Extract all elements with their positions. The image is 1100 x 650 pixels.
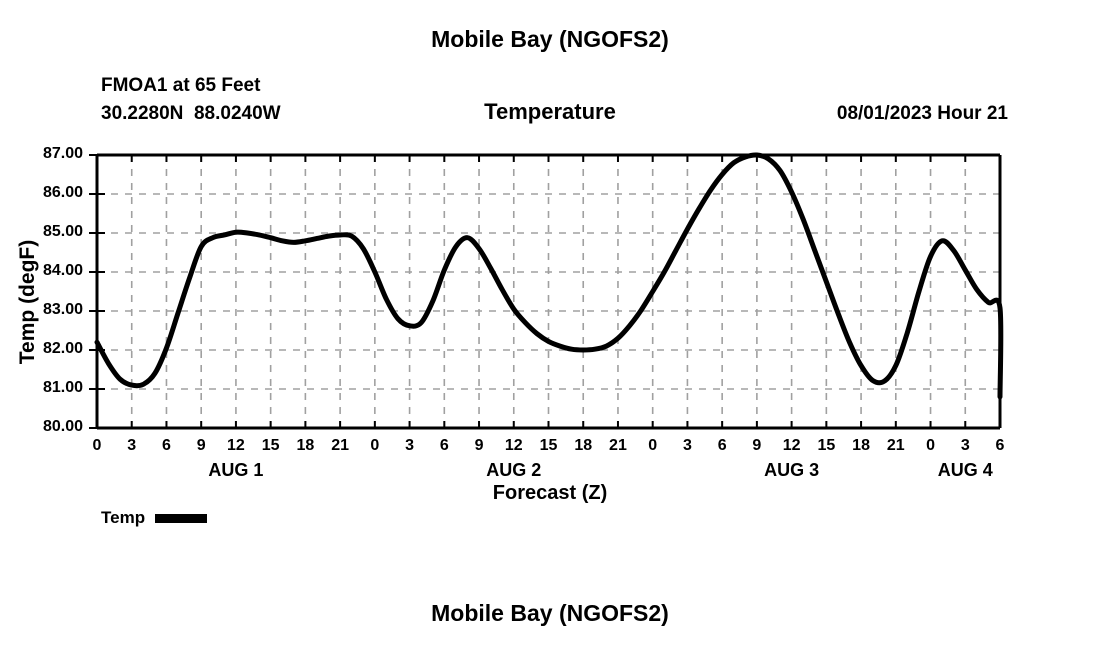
x-tick-label: 6 xyxy=(718,437,727,455)
legend-swatch-temp xyxy=(155,514,207,523)
x-tick-label: 3 xyxy=(405,437,414,455)
x-tick-label: 3 xyxy=(127,437,136,455)
x-day-label: AUG 1 xyxy=(208,460,263,481)
y-tick-label: 82.00 xyxy=(7,340,83,358)
x-tick-label: 18 xyxy=(852,437,870,455)
y-tick-label: 86.00 xyxy=(7,184,83,202)
x-tick-label: 9 xyxy=(197,437,206,455)
x-tick-label: 9 xyxy=(475,437,484,455)
x-tick-label: 6 xyxy=(996,437,1005,455)
x-tick-label: 15 xyxy=(817,437,835,455)
x-tick-label: 9 xyxy=(752,437,761,455)
x-tick-label: 15 xyxy=(262,437,280,455)
x-day-label: AUG 3 xyxy=(764,460,819,481)
y-tick-label: 84.00 xyxy=(7,262,83,280)
gridlines xyxy=(97,155,1000,428)
x-tick-label: 6 xyxy=(440,437,449,455)
page-title-bottom: Mobile Bay (NGOFS2) xyxy=(0,600,1100,627)
x-day-label: AUG 4 xyxy=(938,460,993,481)
x-tick-label: 0 xyxy=(648,437,657,455)
x-tick-label: 12 xyxy=(783,437,801,455)
chart-container: Temp (degF) 80.0081.0082.0083.0084.0085.… xyxy=(0,0,1100,650)
x-tick-label: 12 xyxy=(505,437,523,455)
x-tick-label: 18 xyxy=(296,437,314,455)
x-axis-label: Forecast (Z) xyxy=(0,482,1100,505)
x-tick-label: 18 xyxy=(574,437,592,455)
y-tick-label: 80.00 xyxy=(7,418,83,436)
x-tick-label: 21 xyxy=(887,437,905,455)
x-tick-label: 21 xyxy=(331,437,349,455)
plot-frame xyxy=(97,155,1000,428)
y-tick-label: 85.00 xyxy=(7,223,83,241)
x-tick-label: 0 xyxy=(926,437,935,455)
legend-label-temp: Temp xyxy=(101,508,145,528)
x-tick-label: 0 xyxy=(370,437,379,455)
x-tick-label: 21 xyxy=(609,437,627,455)
y-tick-label: 87.00 xyxy=(7,145,83,163)
y-tick-label: 83.00 xyxy=(7,301,83,319)
x-tick-label: 0 xyxy=(93,437,102,455)
series-temp-line xyxy=(97,155,1001,397)
x-day-label: AUG 2 xyxy=(486,460,541,481)
y-tick-label: 81.00 xyxy=(7,379,83,397)
x-tick-label: 3 xyxy=(961,437,970,455)
axis-ticks xyxy=(89,155,1000,428)
x-tick-label: 15 xyxy=(540,437,558,455)
legend: Temp xyxy=(101,508,207,528)
x-tick-label: 12 xyxy=(227,437,245,455)
x-tick-label: 6 xyxy=(162,437,171,455)
x-tick-label: 3 xyxy=(683,437,692,455)
chart-svg xyxy=(0,0,1100,650)
